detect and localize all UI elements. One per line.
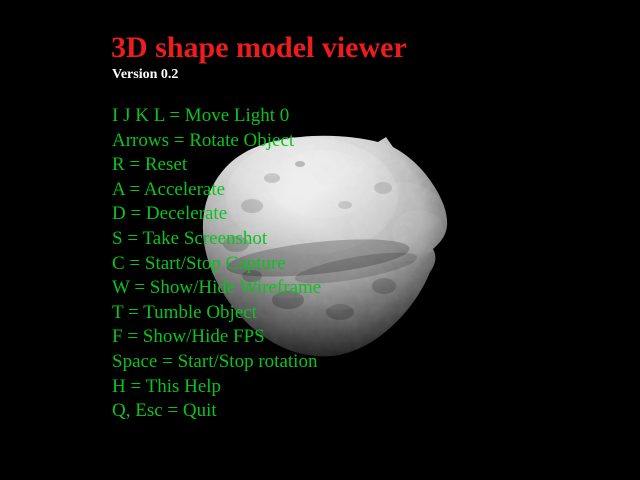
help-line-reset: R = Reset bbox=[112, 153, 321, 178]
help-line-fps: F = Show/Hide FPS bbox=[112, 325, 321, 350]
help-line-rotate-object: Arrows = Rotate Object bbox=[112, 129, 321, 154]
help-line-rotation: Space = Start/Stop rotation bbox=[112, 350, 321, 375]
help-line-quit: Q, Esc = Quit bbox=[112, 399, 321, 424]
help-key-list: I J K L = Move Light 0 Arrows = Rotate O… bbox=[112, 104, 321, 424]
help-line-tumble: T = Tumble Object bbox=[112, 301, 321, 326]
help-line-capture: C = Start/Stop Capture bbox=[112, 252, 321, 277]
version-label: Version 0.2 bbox=[112, 66, 178, 83]
help-overlay: 3D shape model viewer Version 0.2 I J K … bbox=[0, 0, 640, 480]
help-line-move-light: I J K L = Move Light 0 bbox=[112, 104, 321, 129]
page-title: 3D shape model viewer bbox=[111, 31, 407, 65]
help-line-decelerate: D = Decelerate bbox=[112, 202, 321, 227]
help-line-screenshot: S = Take Screenshot bbox=[112, 227, 321, 252]
help-line-wireframe: W = Show/Hide Wireframe bbox=[112, 276, 321, 301]
viewer-window: 3D shape model viewer Version 0.2 I J K … bbox=[0, 0, 640, 480]
help-line-this-help: H = This Help bbox=[112, 375, 321, 400]
help-line-accelerate: A = Accelerate bbox=[112, 178, 321, 203]
